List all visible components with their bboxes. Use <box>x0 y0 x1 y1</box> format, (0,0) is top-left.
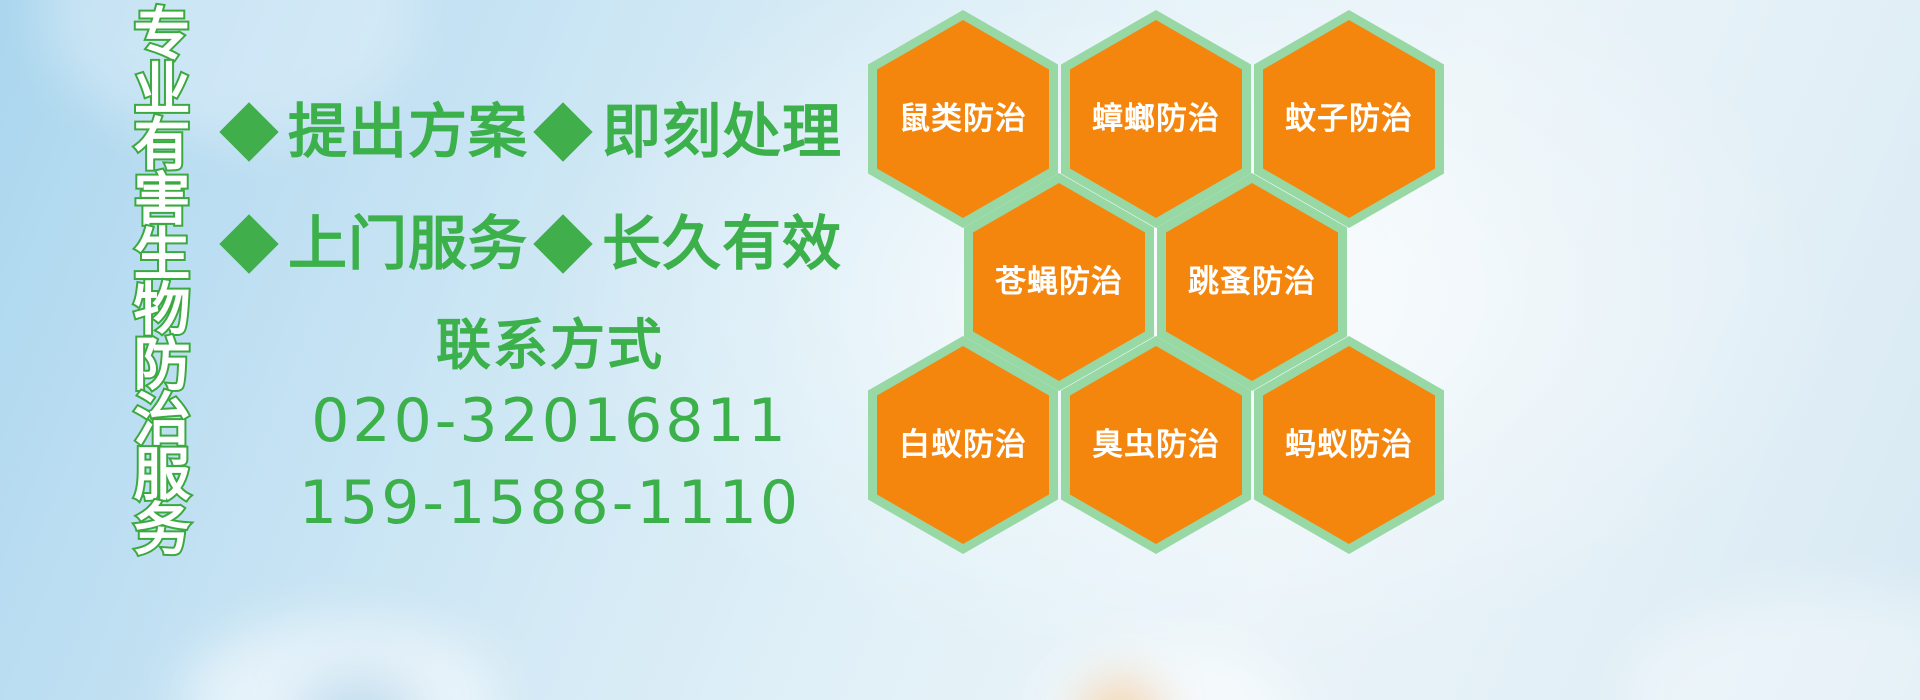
service-hex-inner: 蚂蚁防治 <box>1263 346 1435 544</box>
feature-row: 上门服务 长久有效 <box>228 188 868 300</box>
service-hex-inner: 跳蚤防治 <box>1166 183 1338 381</box>
service-hex-inner: 蚊子防治 <box>1263 20 1435 218</box>
contact-phone-mobile[interactable]: 159-1588-1110 <box>240 462 860 544</box>
feature-list: 提出方案 即刻处理 上门服务 长久有效 <box>228 76 868 300</box>
vertical-headline-char: 害 <box>134 173 191 228</box>
contact-block: 联系方式 020-32016811 159-1588-1110 <box>240 310 860 544</box>
service-hex-label: 蚊子防治 <box>1285 102 1413 136</box>
service-hex-label: 白蚁防治 <box>899 428 1027 462</box>
service-hex-label: 蚂蚁防治 <box>1285 428 1413 462</box>
feature-label: 提出方案 <box>288 101 528 163</box>
feature-item-long-lasting: 长久有效 <box>542 213 842 275</box>
vertical-headline: 专 业 有 害 生 物 防 治 服 务 <box>110 8 214 568</box>
vertical-headline-char: 防 <box>134 338 191 393</box>
feature-label: 上门服务 <box>288 213 528 275</box>
service-hex-label: 鼠类防治 <box>899 102 1027 136</box>
feature-item-propose-plan: 提出方案 <box>228 101 528 163</box>
service-hex-label: 臭虫防治 <box>1092 428 1220 462</box>
service-hex-label: 跳蚤防治 <box>1188 265 1316 299</box>
feature-item-immediate-handling: 即刻处理 <box>542 101 842 163</box>
service-hex-label: 苍蝇防治 <box>995 265 1123 299</box>
vertical-headline-char: 生 <box>134 228 191 283</box>
pest-control-service-banner: 专 业 有 害 生 物 防 治 服 务 提出方案 即刻处理 上门服务 <box>0 0 1920 700</box>
background-highlight-blob <box>300 674 420 700</box>
diamond-bullet-icon <box>219 214 278 273</box>
service-hex-inner: 苍蝇防治 <box>973 183 1145 381</box>
vertical-headline-char: 服 <box>134 448 191 503</box>
service-honeycomb: 鼠类防治 蟑螂防治 蚊子防治 苍蝇防治 跳蚤防治 白蚁防治 <box>862 2 1462 562</box>
background-accent-blob <box>1085 684 1155 700</box>
service-hex-inner: 鼠类防治 <box>877 20 1049 218</box>
background-highlight-blob <box>1620 590 1920 700</box>
service-hex-label: 蟑螂防治 <box>1092 102 1220 136</box>
contact-phone-landline[interactable]: 020-32016811 <box>240 380 860 462</box>
feature-row: 提出方案 即刻处理 <box>228 76 868 188</box>
vertical-headline-char: 业 <box>134 63 191 118</box>
service-hex-inner: 白蚁防治 <box>877 346 1049 544</box>
feature-label: 长久有效 <box>602 213 842 275</box>
vertical-headline-char: 务 <box>134 503 191 558</box>
service-hex-inner: 臭虫防治 <box>1070 346 1242 544</box>
background-highlight-blob <box>1040 640 1300 700</box>
vertical-headline-char: 有 <box>134 118 191 173</box>
background-highlight-blob <box>180 620 500 700</box>
vertical-headline-char: 物 <box>134 283 191 338</box>
contact-heading: 联系方式 <box>240 310 860 380</box>
diamond-bullet-icon <box>219 102 278 161</box>
diamond-bullet-icon <box>533 102 592 161</box>
feature-item-onsite-service: 上门服务 <box>228 213 528 275</box>
diamond-bullet-icon <box>533 214 592 273</box>
feature-label: 即刻处理 <box>602 101 842 163</box>
vertical-headline-char: 专 <box>134 8 191 63</box>
vertical-headline-char: 治 <box>134 393 191 448</box>
service-hex-inner: 蟑螂防治 <box>1070 20 1242 218</box>
